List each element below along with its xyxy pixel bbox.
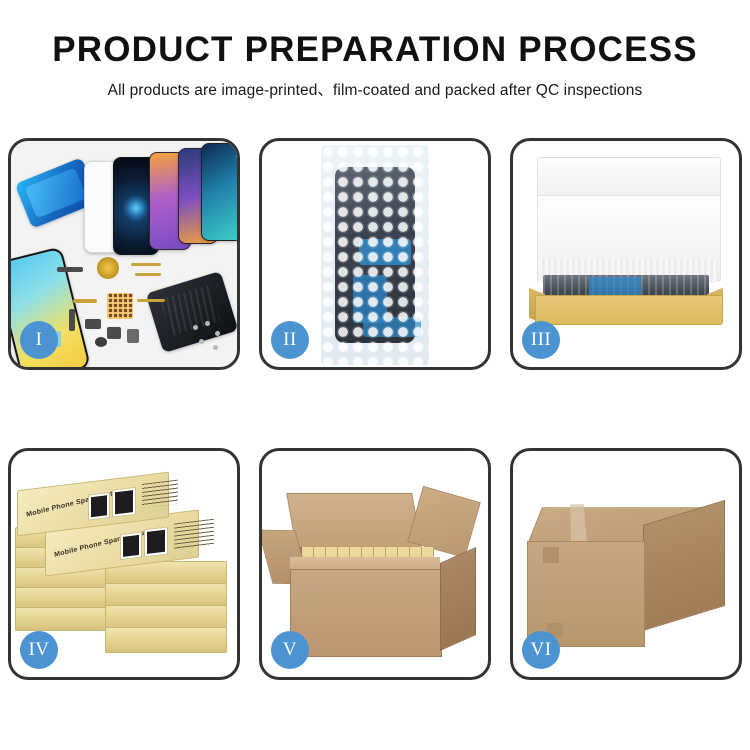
process-step-grid: I II III [8,138,742,680]
step-badge-6: VI [522,631,560,669]
step-badge-1: I [20,321,58,359]
speaker-part [95,337,107,347]
step-badge-2: II [271,321,309,359]
box-front-panel [535,295,723,325]
bubble-wrap-bag [321,145,429,365]
page-title: PRODUCT PREPARATION PROCESS [0,30,750,70]
step-badge-5: V [271,631,309,669]
earpiece-part [57,267,83,272]
page-subtitle: All products are image-printed、film-coat… [0,80,750,102]
carton-front-face [290,569,442,657]
process-step-panel-3[interactable]: III [510,138,742,370]
process-step-panel-6[interactable]: VI [510,448,742,680]
step-badge-3: III [522,321,560,359]
stacked-box-right-3 [105,605,227,629]
flex-cable-part-1 [131,263,161,266]
bubble-texture [321,145,429,365]
antenna-strip-part [69,309,75,331]
process-step-panel-2[interactable]: II [259,138,491,370]
phone-display-teal [201,143,237,241]
stacked-box-right-4 [105,627,227,653]
process-step-panel-4[interactable]: Mobile Phone Spare Parts Mobile Phone Sp… [8,448,240,680]
process-step-panel-1[interactable]: I [8,138,240,370]
carton-right-face [440,547,476,651]
flex-cable-part-3 [137,299,165,302]
vibrator-part [127,329,139,343]
header: PRODUCT PREPARATION PROCESS All products… [0,0,750,102]
chip-board-part [107,293,133,319]
carton-tab-upper [543,547,559,563]
flex-cable-part-4 [73,299,97,303]
process-step-panel-5[interactable]: V [259,448,491,680]
speaker-coil-part [97,257,119,279]
button-part [85,319,101,329]
step-badge-4: IV [20,631,58,669]
flex-cable-part-2 [135,273,161,276]
camera-module-part [107,327,121,339]
screws-group [189,319,229,353]
stacked-box-right-2 [105,583,227,607]
